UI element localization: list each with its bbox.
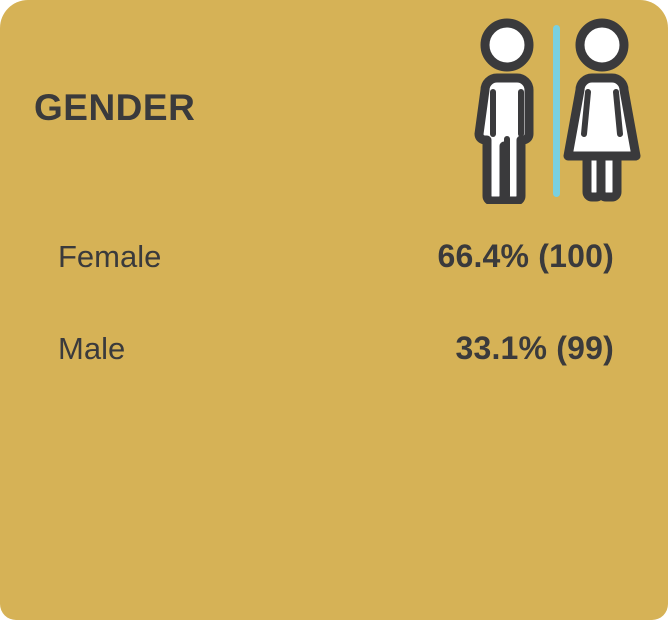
male-female-restroom-icon bbox=[468, 16, 650, 204]
female-figure-icon bbox=[568, 23, 636, 197]
page-title: GENDER bbox=[34, 89, 195, 126]
gender-stats-card: GENDER bbox=[0, 0, 668, 620]
vertical-divider bbox=[553, 25, 560, 197]
stat-label-female: Female bbox=[58, 241, 161, 272]
gender-stats-list: Female 66.4% (100) Male 33.1% (99) bbox=[58, 240, 614, 424]
stat-value-female: 66.4% (100) bbox=[437, 240, 614, 272]
stat-value-male: 33.1% (99) bbox=[455, 332, 614, 364]
male-figure-icon bbox=[479, 23, 529, 201]
list-item: Male 33.1% (99) bbox=[58, 332, 614, 424]
list-item: Female 66.4% (100) bbox=[58, 240, 614, 332]
stat-label-male: Male bbox=[58, 333, 125, 364]
